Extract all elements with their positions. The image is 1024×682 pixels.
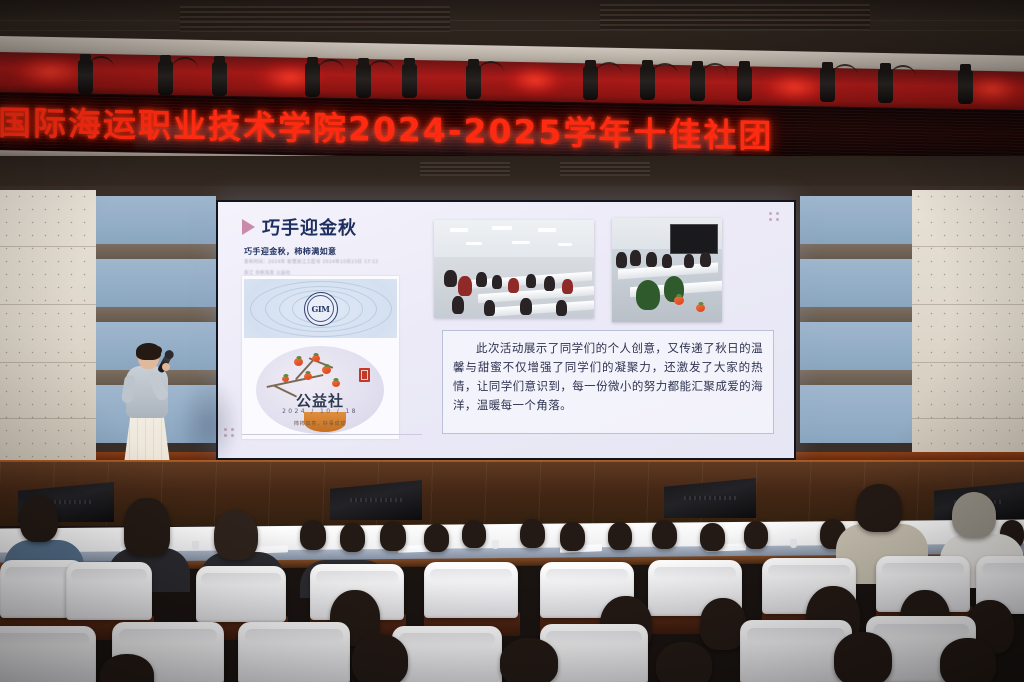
projection-screen[interactable]: 巧手迎金秋 巧手迎金秋，柿柿满如意 发布时间：2024年 智慧浙江工匠号 202… <box>216 200 796 460</box>
acoustic-panel-right <box>912 190 1024 462</box>
school-emblem-icon: GIM <box>304 292 338 326</box>
presenter-hair-bun <box>153 346 162 355</box>
poster-date: 2024 / 10 / 18 <box>282 408 358 415</box>
slide-title: 巧手迎金秋 <box>262 214 357 240</box>
slide-meta-line-1: 发布时间：2024年 智慧浙江工匠号 2024年10月23日 17:12 <box>244 259 394 266</box>
seat <box>392 626 502 682</box>
slide-left-card: GIM 公益社 2024 / 10 <box>242 276 399 439</box>
slide-body-paragraph: 此次活动展示了同学们的个人创意，又传递了秋日的温馨与甜蜜不仅增强了同学们的凝聚力… <box>453 339 763 415</box>
slide-photo-workshop <box>612 218 722 322</box>
slide-text-box: 此次活动展示了同学们的个人创意，又传递了秋日的温馨与甜蜜不仅增强了同学们的凝聚力… <box>442 330 774 434</box>
slide-divider <box>242 434 422 435</box>
slide-photo-classroom <box>434 220 594 318</box>
blue-wall-right <box>800 196 912 458</box>
seat <box>66 562 152 620</box>
presenter-shadow <box>178 378 240 470</box>
presenter-hand <box>162 363 170 371</box>
presentation-slide: 巧手迎金秋 巧手迎金秋，柿柿满如意 发布时间：2024年 智慧浙江工匠号 202… <box>218 202 794 458</box>
red-seal-icon <box>359 368 370 382</box>
seat <box>238 622 350 682</box>
slide-subtitle: 巧手迎金秋，柿柿满如意 <box>244 246 336 257</box>
poster-slogan: 柿柿如意，好事成双 <box>294 420 346 427</box>
seat <box>196 566 286 622</box>
slide-title-row: 巧手迎金秋 <box>242 214 357 240</box>
auditorium-photo: 国际海运职业技术学院2024-2025学年十佳社团 <box>0 0 1024 682</box>
decor-dots-top-right <box>769 212 780 221</box>
emblem-label: GIM <box>312 304 330 314</box>
play-triangle-icon <box>242 219 255 235</box>
seat <box>0 626 96 682</box>
club-poster: 公益社 2024 / 10 / 18 柿柿如意，好事成双 <box>256 346 384 434</box>
acoustic-panel-left <box>0 190 96 462</box>
emblem-ripple-band: GIM <box>244 279 397 338</box>
seat <box>424 562 518 618</box>
